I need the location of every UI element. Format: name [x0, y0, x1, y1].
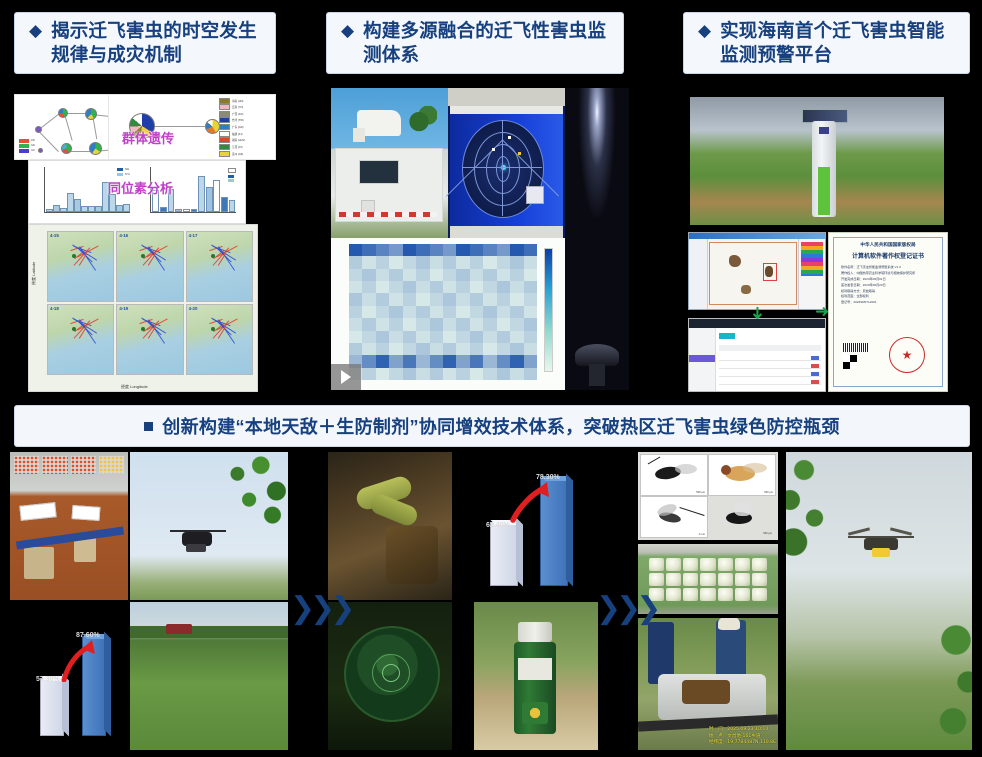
- certificate-title: 计算机软件著作权登记证书: [837, 251, 939, 260]
- isotope-bar: [229, 200, 236, 212]
- heatmap-cell: [416, 331, 429, 343]
- scale-label: 500 μm: [696, 491, 705, 494]
- legend-label: 贵州 (GZ): [232, 152, 243, 156]
- diamond-bullet-icon: ◆: [29, 22, 42, 39]
- heatmap-cell: [483, 256, 496, 268]
- bar-control: [40, 680, 62, 736]
- square-bullet-icon: [144, 422, 153, 431]
- rearing-cup: [683, 558, 698, 571]
- heatmap-cell: [430, 331, 443, 343]
- legend-row: 台湾 (TW): [219, 118, 273, 123]
- heatmap-cell: [376, 331, 389, 343]
- heatmap-cell: [524, 269, 537, 281]
- legend-label: 云南 (YN): [232, 105, 243, 109]
- network-node: [61, 143, 72, 154]
- overlay-coords: 经纬度：19.7784487N,110.8E: [709, 740, 776, 747]
- map-cell-label: 4-19: [119, 306, 128, 311]
- heatmap-cell: [497, 343, 510, 355]
- legend-swatch: [219, 98, 230, 104]
- heatmap-cell: [483, 306, 496, 318]
- heatmap-cell: [510, 368, 523, 380]
- bar-label-treatment: 87.60%: [76, 632, 100, 639]
- isotope-bar: [191, 209, 198, 212]
- heatmap-cell: [470, 368, 483, 380]
- heatmap-cell: [389, 306, 402, 318]
- field-trial-plots-photo: [10, 452, 128, 600]
- specimen-3: 1 mm: [640, 496, 708, 538]
- biopesticide-bottle-photo: [474, 602, 598, 750]
- heatmap-cell: [416, 318, 429, 330]
- heatmap-cell: [524, 331, 537, 343]
- heatmap-cell: [389, 281, 402, 293]
- legend-swatch: [219, 144, 230, 150]
- heatmap-cell: [456, 368, 469, 380]
- map-cell-label: 4-20: [189, 306, 198, 311]
- heatmap-cell: [524, 318, 537, 330]
- heatmap-cell: [403, 306, 416, 318]
- heatmap-cell: [389, 244, 402, 256]
- heatmap-cell: [483, 355, 496, 367]
- specimen-4: 500 μm: [708, 496, 774, 536]
- heatmap-cell: [403, 269, 416, 281]
- rearing-cup: [752, 558, 767, 571]
- bar-label-control: 62.40%: [486, 522, 510, 529]
- rearing-cup: [683, 573, 698, 586]
- heatmap-cell: [430, 355, 443, 367]
- heatmap-cell: [443, 368, 456, 380]
- heatmap-cell: [443, 269, 456, 281]
- legend-row: 云南 (YN): [219, 105, 273, 110]
- scale-label: 500 μm: [764, 491, 773, 494]
- heatmap-cell: [376, 368, 389, 380]
- isotope-legend-right: [228, 168, 236, 182]
- qr-code-icon: [843, 355, 857, 369]
- heatmap-cell: [443, 318, 456, 330]
- heatmap-cell: [443, 343, 456, 355]
- heatmap-cell: [430, 281, 443, 293]
- rearing-cup: [735, 558, 750, 571]
- density-heatmap-video: [331, 238, 565, 390]
- heatmap-cell: [456, 256, 469, 268]
- release-point-marker: [211, 254, 215, 258]
- rearing-cup: [735, 573, 750, 586]
- heatmap-cell: [376, 355, 389, 367]
- header-card-2: ◆ 构建多源融合的迁飞性害虫监测体系: [326, 12, 624, 74]
- heatmap-cell: [362, 244, 375, 256]
- network-node: [58, 108, 68, 118]
- heatmap-cell: [456, 306, 469, 318]
- scale-label: 500 μm: [763, 532, 772, 535]
- rearing-cup: [683, 588, 698, 601]
- heatmap-cell: [362, 256, 375, 268]
- rearing-cup: [666, 588, 681, 601]
- isotope-bar: [206, 187, 213, 212]
- heatmap-cell: [483, 244, 496, 256]
- heatmap-cell: [416, 293, 429, 305]
- multi-source-monitoring-panel: [331, 88, 629, 390]
- isotope-bar: [213, 180, 220, 212]
- heatmap-cell: [416, 256, 429, 268]
- heatmap-cell: [497, 244, 510, 256]
- heatmap-cell: [456, 244, 469, 256]
- heatmap-cell: [416, 343, 429, 355]
- heatmap-cell: [389, 269, 402, 281]
- heatmap-cell: [376, 281, 389, 293]
- flow-chevron-icon-2: ❯❯❯: [596, 594, 656, 624]
- heatmap-cell: [443, 306, 456, 318]
- heatmap-cell: [416, 368, 429, 380]
- legend-swatch: [219, 104, 230, 110]
- legend-row: 广东 (GD): [219, 125, 273, 130]
- isotope-legend-left: δ²H δ¹³C: [117, 168, 130, 176]
- isotope-bar: [81, 206, 87, 213]
- play-icon: [341, 370, 351, 384]
- network-edge: [39, 113, 60, 130]
- trajectory-map-cell: 4-20: [186, 304, 253, 375]
- heatmap-cell: [349, 318, 362, 330]
- heatmap-cell: [349, 306, 362, 318]
- genetics-legend: 海南 (HN)云南 (YN)广西 (GX)台湾 (TW)广东 (GD)福建 (F…: [218, 97, 274, 157]
- heatmap-cell: [470, 318, 483, 330]
- heatmap-cell: [510, 281, 523, 293]
- heatmap-cell: [443, 244, 456, 256]
- heatmap-cell: [362, 293, 375, 305]
- heatmap-cell: [430, 269, 443, 281]
- heatmap-cell: [497, 293, 510, 305]
- heatmap-cell: [349, 244, 362, 256]
- heatmap-cell: [470, 306, 483, 318]
- flow-arrow-down-icon: ➜: [747, 306, 767, 320]
- isotope-bar: [60, 208, 66, 212]
- heatmap-cell: [443, 281, 456, 293]
- isotope-bar: [95, 206, 101, 213]
- map-cell-label: 4-18: [50, 306, 59, 311]
- rearing-cup: [752, 573, 767, 586]
- heatmap-cell: [403, 355, 416, 367]
- legend-swatch: [219, 151, 230, 157]
- heatmap-cell: [483, 368, 496, 380]
- bar-label-treatment: 78.30%: [536, 474, 560, 481]
- increase-arrow-icon: [60, 640, 96, 682]
- corn-field-photo: [130, 602, 288, 750]
- map-cell-label: 4-16: [119, 233, 128, 238]
- field-work-photo: 时 间：2025.09.23 10:10 地 点：文昌地·161乡道 经纬度：1…: [638, 618, 778, 750]
- map-y-axis-label: 纬度 Latitude: [31, 262, 37, 285]
- isotope-bar: [116, 205, 122, 212]
- certificate-authority: 中华人民共和国国家版权局: [839, 242, 937, 248]
- heatmap-cell: [497, 281, 510, 293]
- rearing-cup: [649, 573, 664, 586]
- heatmap-cell: [470, 293, 483, 305]
- heatmap-cell: [510, 293, 523, 305]
- heatmap-cell: [416, 281, 429, 293]
- heatmap-cell: [510, 269, 523, 281]
- heatmap-cell: [430, 343, 443, 355]
- drone-release-photo: [130, 452, 288, 600]
- heatmap-cell: [456, 269, 469, 281]
- heatmap-cell: [524, 293, 537, 305]
- heatmap-cell: [376, 293, 389, 305]
- rearing-cup: [735, 588, 750, 601]
- heatmap-cell: [524, 306, 537, 318]
- specimen-2: 500 μm: [708, 454, 776, 496]
- heatmap-cell: [349, 281, 362, 293]
- heatmap-cell: [470, 281, 483, 293]
- heatmap-cell: [497, 306, 510, 318]
- heatmap-cell: [456, 331, 469, 343]
- monitoring-station-photo: [690, 97, 944, 225]
- drone-sky-photo: [786, 452, 972, 750]
- heatmap-cell: [403, 293, 416, 305]
- heatmap-cell: [470, 355, 483, 367]
- legend-swatch: [219, 131, 230, 137]
- legend-swatch: [219, 124, 230, 130]
- heatmap-cell: [483, 269, 496, 281]
- heatmap-cell: [376, 306, 389, 318]
- heatmap-cell: [389, 343, 402, 355]
- heatmap-cell: [403, 244, 416, 256]
- legend-swatch: [219, 137, 230, 143]
- isotope-bar: [123, 204, 129, 212]
- heatmap-cell: [470, 244, 483, 256]
- network-mini-legend-left: HN GD GX: [19, 139, 35, 153]
- heatmap-cell: [443, 355, 456, 367]
- trajectory-map-cell: 4-19: [116, 304, 183, 375]
- heatmap-cell: [389, 318, 402, 330]
- legend-swatch: [219, 111, 230, 117]
- heatmap-cell: [403, 368, 416, 380]
- heatmap-cell: [510, 318, 523, 330]
- software-copyright-certificate: 中华人民共和国国家版权局 计算机软件著作权登记证书 软件名称：迁飞害虫智能监测预…: [828, 232, 948, 392]
- rearing-cup: [752, 588, 767, 601]
- certificate-fields: 软件名称：迁飞害虫智能监测预警系统 V1.0著作权人：中国热带农业科学院环境与植…: [841, 265, 937, 306]
- heatmap-cell: [389, 368, 402, 380]
- trajectory-map-cell: 4-17: [186, 231, 253, 302]
- heatmap-cell: [524, 343, 537, 355]
- isotope-analysis-label: 同位素分析: [108, 178, 173, 197]
- heatmap-cell: [362, 331, 375, 343]
- legend-row: 福建 (FJ): [219, 131, 273, 136]
- network-node: [38, 148, 43, 153]
- diamond-bullet-icon: ◆: [698, 22, 711, 39]
- heatmap-cell: [416, 306, 429, 318]
- heatmap-cell: [510, 256, 523, 268]
- heatmap-cell: [362, 368, 375, 380]
- barcode-icon: [843, 343, 869, 352]
- play-button[interactable]: [331, 364, 361, 390]
- certificate-field: 登记号：2023SR0712201: [841, 300, 937, 306]
- rearing-tray-photo: [638, 544, 778, 614]
- rearing-cup: [718, 573, 733, 586]
- heatmap-cell: [456, 281, 469, 293]
- specimen-1: 500 μm: [640, 454, 708, 496]
- legend-label: 江西 (JX): [232, 145, 243, 149]
- map-x-axis-label: 经度 Longitude: [121, 384, 148, 390]
- heatmap-cell: [349, 269, 362, 281]
- rearing-cup: [700, 573, 715, 586]
- heatmap-cell: [430, 256, 443, 268]
- heatmap-cell: [483, 331, 496, 343]
- heatmap-cell: [510, 306, 523, 318]
- heatmap-cell: [403, 343, 416, 355]
- header-card-1: ◆ 揭示迁飞害虫的时空发生规律与成灾机制: [14, 12, 276, 74]
- heatmap-cell: [349, 343, 362, 355]
- heatmap-cell: [456, 293, 469, 305]
- efficacy-bar-chart-right: 62.40% 78.30%: [474, 452, 598, 600]
- rearing-cup: [649, 558, 664, 571]
- heatmap-cell: [430, 318, 443, 330]
- heatmap-cell: [483, 318, 496, 330]
- poster-canvas: ◆ 揭示迁飞害虫的时空发生规律与成灾机制 ◆ 构建多源融合的迁飞性害虫监测体系 …: [0, 0, 982, 757]
- heatmap-cell: [430, 244, 443, 256]
- legend-row: 江西 (JX): [219, 144, 273, 149]
- banner-title: 创新构建“本地天敌＋生防制剂”协同增效技术体系，突破热区迁飞害虫绿色防控瓶颈: [162, 413, 839, 439]
- heatmap-cell: [456, 343, 469, 355]
- heatmap-cell: [376, 343, 389, 355]
- legend-row: 海南 (HN): [219, 98, 273, 103]
- rearing-cup: [666, 573, 681, 586]
- heatmap-cell: [470, 256, 483, 268]
- heatmap-cell: [362, 269, 375, 281]
- heatmap-cell: [497, 355, 510, 367]
- heatmap-cell: [349, 256, 362, 268]
- header-title-3: 实现海南首个迁飞害虫智能监测预警平台: [720, 19, 959, 68]
- heatmap-cell: [389, 256, 402, 268]
- legend-label: 广东 (GD): [232, 125, 244, 129]
- diamond-bullet-icon: ◆: [341, 22, 354, 39]
- rearing-cup: [666, 558, 681, 571]
- heatmap-cell: [470, 269, 483, 281]
- heatmap-cell: [416, 269, 429, 281]
- network-edge: [65, 115, 73, 140]
- heatmap-cell: [389, 331, 402, 343]
- legend-row: 湖南 (HuN): [219, 138, 273, 143]
- monitoring-dashboard-screenshot: [688, 318, 826, 392]
- overlay-time: 时 间：2025.09.23 10:10: [709, 727, 776, 734]
- isotope-pie-map-chart: 海南 (HN)云南 (YN)广西 (GX)台湾 (TW)广东 (GD)福建 (F…: [108, 94, 276, 160]
- isotope-bar: [221, 197, 228, 212]
- heatmap-cell: [483, 343, 496, 355]
- bar-control: [490, 524, 516, 586]
- heatmap-cell: [456, 355, 469, 367]
- heatmap-cell: [497, 368, 510, 380]
- heatmap-cell: [470, 343, 483, 355]
- heatmap-cell: [403, 256, 416, 268]
- heatmap-cell: [483, 293, 496, 305]
- heatmap-cell: [470, 331, 483, 343]
- heatmap-cell: [376, 269, 389, 281]
- heatmap-cell: [483, 281, 496, 293]
- network-edge: [93, 117, 98, 139]
- radar-truck-photo: [331, 88, 448, 238]
- heatmap-cell: [524, 281, 537, 293]
- flow-chevron-icon-1: ❯❯❯: [290, 594, 350, 624]
- heatmap-cell: [510, 244, 523, 256]
- official-seal-icon: ★: [889, 337, 925, 373]
- heatmap-cell: [416, 355, 429, 367]
- heatmap-cell: [510, 331, 523, 343]
- searchlight-trap-photo: [565, 88, 629, 390]
- legend-label: 海南 (HN): [232, 99, 243, 103]
- heatmap-cell: [524, 256, 537, 268]
- field-data-overlay: 时 间：2025.09.23 10:10 地 点：文昌地·161乡道 经纬度：1…: [709, 727, 776, 747]
- legend-swatch: [219, 117, 230, 123]
- heatmap-cell: [443, 256, 456, 268]
- heatmap-cell: [497, 318, 510, 330]
- release-point-marker: [72, 254, 76, 258]
- heatmap-cell: [430, 368, 443, 380]
- radar-display-photo: [448, 88, 565, 238]
- scale-label: 1 mm: [699, 533, 705, 536]
- heatmap-cell: [362, 306, 375, 318]
- rearing-cup: [718, 558, 733, 571]
- legend-label: 湖南 (HuN): [232, 138, 245, 142]
- migration-trajectory-maps: 纬度 Latitude 经度 Longitude 4-154-164-174-1…: [28, 224, 258, 392]
- heatmap-cell: [497, 256, 510, 268]
- heatmap-cell: [376, 244, 389, 256]
- heatmap-cell: [362, 281, 375, 293]
- map-cell-label: 4-17: [189, 233, 198, 238]
- increase-arrow-icon: [510, 482, 550, 524]
- heatmap-cell: [430, 306, 443, 318]
- isotope-bar: [198, 176, 205, 212]
- network-node: [85, 108, 97, 120]
- heatmap-colorbar: [544, 248, 553, 372]
- legend-label: 福建 (FJ): [232, 132, 243, 136]
- legend-label: 广西 (GX): [232, 112, 243, 116]
- trajectory-map-cell: 4-18: [47, 304, 114, 375]
- rearing-cup: [700, 588, 715, 601]
- rearing-cup: [700, 558, 715, 571]
- header-title-2: 构建多源融合的迁飞性害虫监测体系: [363, 19, 613, 68]
- isotope-bar: [88, 206, 94, 212]
- isotope-bar: [67, 193, 73, 212]
- heatmap-cell: [349, 293, 362, 305]
- heatmap-cell: [376, 256, 389, 268]
- trajectory-map-cell: 4-15: [47, 231, 114, 302]
- isotope-bar: [175, 209, 182, 212]
- armyworm-larva-photo: [328, 452, 452, 600]
- trajectory-map-cell: 4-16: [116, 231, 183, 302]
- heatmap-cell: [497, 331, 510, 343]
- heatmap-cell: [456, 318, 469, 330]
- heatmap-cell: [349, 331, 362, 343]
- section-banner: 创新构建“本地天敌＋生防制剂”协同增效技术体系，突破热区迁飞害虫绿色防控瓶颈: [14, 405, 970, 447]
- network-node: [89, 142, 102, 155]
- release-point-marker: [72, 327, 76, 331]
- header-card-3: ◆ 实现海南首个迁飞害虫智能监测预警平台: [683, 12, 970, 74]
- pest-recognition-software-screenshot: [688, 232, 826, 310]
- heatmap-cell: [403, 318, 416, 330]
- heatmap-cell: [443, 293, 456, 305]
- heatmap-cell: [403, 281, 416, 293]
- heatmap-cell: [524, 368, 537, 380]
- legend-row: 贵州 (GZ): [219, 151, 273, 156]
- heatmap-cell: [524, 244, 537, 256]
- isotope-bar: [74, 199, 80, 212]
- heatmap-cell: [430, 293, 443, 305]
- release-point-marker: [211, 327, 215, 331]
- heatmap-cell: [362, 343, 375, 355]
- heatmap-cell: [510, 343, 523, 355]
- efficacy-bar-chart-left: 57.30% 87.60%: [22, 602, 134, 750]
- isotope-bar: [160, 207, 167, 212]
- heatmap-cell: [416, 244, 429, 256]
- bar-label-control: 57.30%: [36, 676, 60, 683]
- heatmap-cell: [376, 318, 389, 330]
- heatmap-cell: [403, 331, 416, 343]
- heatmap-cell: [362, 355, 375, 367]
